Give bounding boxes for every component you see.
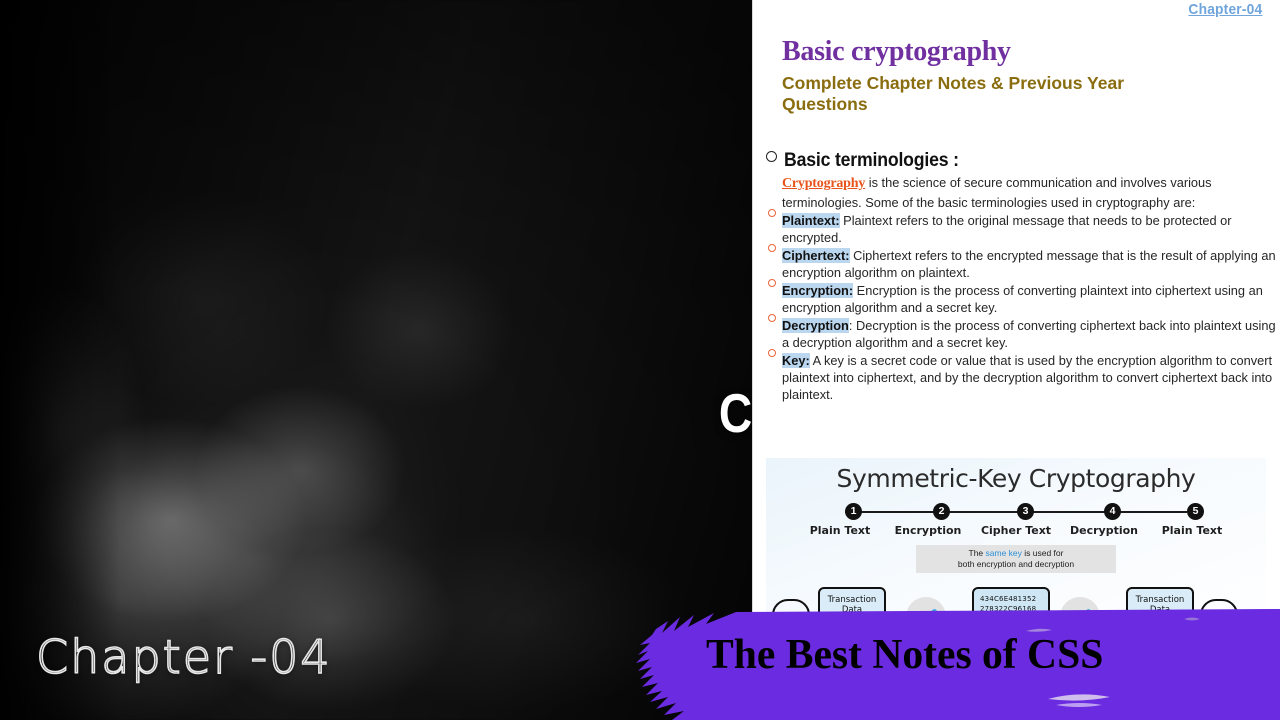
step-node-2: 2 — [933, 503, 950, 520]
term-definition: Encryption is the process of converting … — [782, 283, 1263, 315]
step-label-5: Plain Text — [1148, 524, 1236, 537]
step-label-4: Decryption — [1060, 524, 1148, 537]
step-node-1: 1 — [845, 503, 862, 520]
term-definition: Plaintext refers to the original message… — [782, 213, 1232, 245]
step-node-5: 5 — [1187, 503, 1204, 520]
list-item: Key: A key is a secret code or value tha… — [766, 352, 1276, 403]
small-circle-bullet-icon — [768, 209, 776, 217]
chapter-tag: Chapter -04 — [36, 630, 332, 684]
term-definition: Ciphertext refers to the encrypted messa… — [782, 248, 1276, 280]
step-label-3: Cipher Text — [972, 524, 1060, 537]
step-node-3: 3 — [1017, 503, 1034, 520]
document-chapter-link[interactable]: Chapter-04 — [1188, 1, 1262, 18]
document-subheading: Complete Chapter Notes & Previous Year Q… — [782, 73, 1202, 114]
term-label: Key: — [782, 353, 810, 368]
note-text-c: both encryption and decryption — [958, 559, 1074, 569]
step-connector-line — [845, 511, 1187, 513]
small-circle-bullet-icon — [768, 244, 776, 252]
small-circle-bullet-icon — [768, 279, 776, 287]
keyword-cryptography: Cryptography — [782, 176, 865, 191]
thumbnail-canvas: COMPUTER SYSTEM SECURITY Complete Chapte… — [0, 0, 1280, 720]
step-label-1: Plain Text — [796, 524, 884, 537]
term-definition: A key is a secret code or value that is … — [782, 353, 1272, 402]
section-title: Basic terminologies : — [784, 150, 959, 172]
term-label: Ciphertext: — [782, 248, 850, 263]
banner-title: The Best Notes of CSS — [706, 631, 1260, 679]
term-label: Encryption: — [782, 283, 853, 298]
list-item: Decryption: Decryption is the process of… — [766, 317, 1276, 351]
step-label-2: Encryption — [884, 524, 972, 537]
list-item: Encryption: Encryption is the process of… — [766, 282, 1276, 316]
document-body: Basic terminologies : Cryptography is th… — [766, 150, 1276, 403]
note-text-a: The — [969, 548, 986, 558]
note-text-key: same key — [986, 548, 1022, 558]
same-key-note: The same key is used for both encryption… — [916, 545, 1116, 573]
document-heading: Basic cryptography — [782, 36, 1011, 68]
left-edge-fade — [0, 0, 120, 720]
list-item: Ciphertext: Ciphertext refers to the enc… — [766, 247, 1276, 281]
circle-bullet-icon — [766, 151, 777, 162]
cipher-line-1: 434C6E481352 — [980, 594, 1044, 604]
list-item: Plaintext: Plaintext refers to the origi… — [766, 212, 1276, 246]
section-heading: Basic terminologies : — [766, 150, 1276, 172]
diagram-step-track: 1 2 3 4 5 — [821, 503, 1211, 521]
term-label: Plaintext: — [782, 213, 840, 228]
note-text-b: is used for — [1022, 548, 1064, 558]
term-label: Decryption — [782, 318, 849, 333]
intro-paragraph: Cryptography is the science of secure co… — [782, 174, 1276, 211]
small-circle-bullet-icon — [768, 314, 776, 322]
card-right-line1: Transaction — [1136, 595, 1185, 605]
term-definition: : Decryption is the process of convertin… — [782, 318, 1276, 350]
step-node-4: 4 — [1104, 503, 1121, 520]
card-left-line1: Transaction — [828, 595, 877, 605]
small-circle-bullet-icon — [768, 349, 776, 357]
diagram-step-labels: Plain Text Encryption Cipher Text Decryp… — [796, 524, 1236, 537]
diagram-title: Symmetric-Key Cryptography — [766, 458, 1266, 493]
bottom-banner: The Best Notes of CSS — [628, 607, 1280, 720]
